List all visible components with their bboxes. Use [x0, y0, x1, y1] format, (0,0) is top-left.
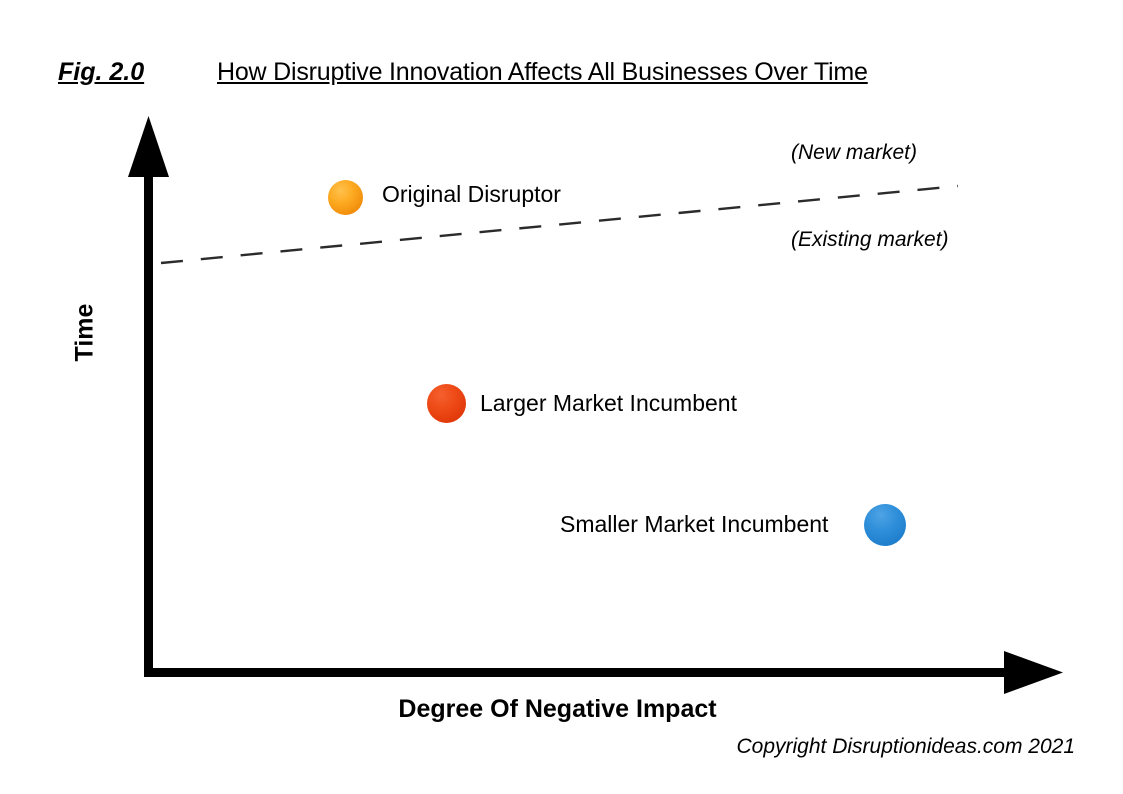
new-market-annotation: (New market) — [791, 141, 917, 165]
x-axis-arrowhead — [1004, 651, 1063, 694]
copyright-notice: Copyright Disruptionideas.com 2021 — [0, 735, 1123, 759]
data-label-original-disruptor: Original Disruptor — [382, 181, 561, 208]
data-point-larger-market-incumbent[interactable] — [427, 384, 466, 423]
x-axis-title-text: Degree Of Negative Impact — [398, 695, 716, 724]
chart-canvas: Fig. 2.0 How Disruptive Innovation Affec… — [0, 0, 1123, 794]
y-axis-arrowhead — [128, 116, 169, 177]
data-label-smaller-market-incumbent: Smaller Market Incumbent — [560, 511, 828, 538]
x-axis-line — [148, 668, 1034, 677]
y-axis-title: Time — [71, 300, 100, 366]
y-axis-line — [144, 150, 153, 677]
data-label-larger-market-incumbent: Larger Market Incumbent — [480, 390, 737, 417]
existing-market-annotation: (Existing market) — [791, 228, 949, 252]
data-point-original-disruptor[interactable] — [328, 180, 363, 215]
data-point-smaller-market-incumbent[interactable] — [864, 504, 906, 546]
x-axis-title: Degree Of Negative Impact — [0, 695, 1123, 724]
